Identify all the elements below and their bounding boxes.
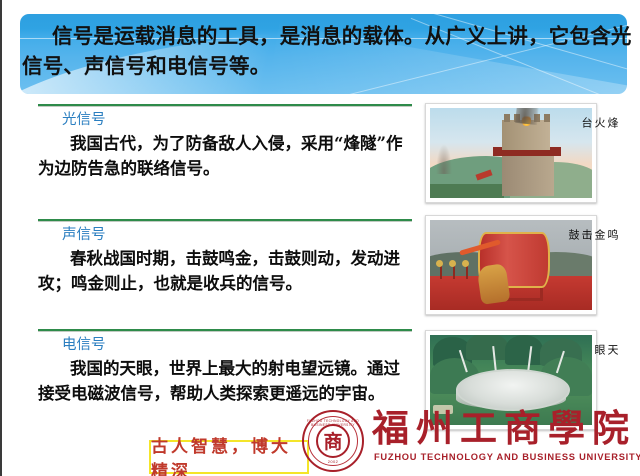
section-divider-rule <box>38 219 412 221</box>
section-electric-signal: 电信号 我国的天眼，世界上最大的射电望远镜。通过接受电磁波信号，帮助人类探索更遥… <box>38 329 412 406</box>
distant-smoke-shape <box>436 144 452 174</box>
flag-pole-shape <box>466 265 468 279</box>
section-title-light-signal: 光信号 <box>62 110 412 130</box>
university-name-english: FUZHOU TECHNOLOGY AND BUSINESS UNIVERSIT… <box>374 452 640 462</box>
section-divider-rule <box>38 104 412 106</box>
photo-caption-fast-telescope: 天眼 <box>603 344 619 356</box>
section-body-electric-signal: 我国的天眼，世界上最大的射电望远镜。通过接受电磁波信号，帮助人类探索更遥远的宇宙… <box>38 356 412 406</box>
mountain-peak-shape <box>466 335 508 360</box>
great-wall-shape <box>430 184 504 198</box>
beacon-tower-image <box>430 108 592 198</box>
merlon-shape <box>504 114 510 122</box>
flag-pole-shape <box>440 265 442 279</box>
photo-caption-beacon-tower: 烽火台 <box>603 117 619 129</box>
section-body-light-signal: 我国古代，为了防备敌人入侵，采用“烽隧”作为边防告急的联络信号。 <box>38 131 412 181</box>
section-title-sound-signal: 声信号 <box>62 225 412 245</box>
mountain-peak-shape <box>505 335 544 365</box>
seal-micro-text-bottom: 2002 <box>304 459 362 464</box>
merlon-shape <box>544 114 550 122</box>
seal-micro-text-top: FUZHOU TECHNOLOGY AND BUSINESS UNIVERSIT… <box>304 419 362 427</box>
section-divider-rule <box>38 329 412 331</box>
tower-base-shape <box>502 150 554 196</box>
slogan-box: 古人智慧，博大精深 <box>149 440 309 474</box>
drummer-figure-shape <box>476 263 510 304</box>
section-light-signal: 光信号 我国古代，为了防备敌人入侵，采用“烽隧”作为边防告急的联络信号。 <box>38 104 412 181</box>
section-sound-signal: 声信号 春秋战国时期，击鼓鸣金，击鼓则动，发动进攻；鸣金则止，也就是收兵的信号。 <box>38 219 412 296</box>
university-logo: FUZHOU TECHNOLOGY AND BUSINESS UNIVERSIT… <box>302 404 640 476</box>
banner-intro-text: 信号是运载消息的工具，是消息的载体。从广义上讲，它包含光信号、声信号和电信号等。 <box>22 22 632 82</box>
seal-center-character: 商 <box>304 427 362 454</box>
photo-caption-war-drum: 鸣金击鼓 <box>603 229 619 241</box>
slogan-text: 古人智慧，博大精深 <box>151 432 307 476</box>
flag-pole-shape <box>453 265 455 279</box>
photo-frame <box>425 103 597 203</box>
section-title-electric-signal: 电信号 <box>62 335 412 355</box>
university-name-chinese: 福州工商學院 <box>372 406 636 450</box>
presentation-slide: 信号是运载消息的工具，是消息的载体。从广义上讲，它包含光信号、声信号和电信号等。… <box>0 0 640 476</box>
section-body-sound-signal: 春秋战国时期，击鼓鸣金，击鼓则动，发动进攻；鸣金则止，也就是收兵的信号。 <box>38 246 412 296</box>
university-seal-icon: FUZHOU TECHNOLOGY AND BUSINESS UNIVERSIT… <box>302 410 364 472</box>
